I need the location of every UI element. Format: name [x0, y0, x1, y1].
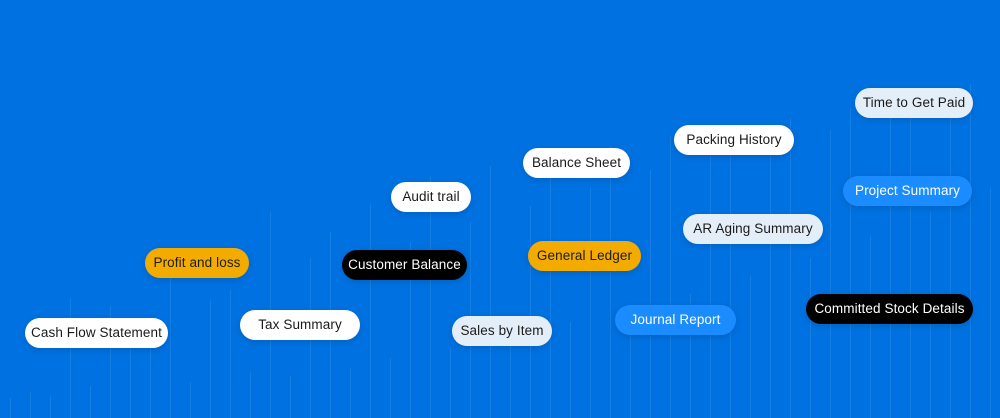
- background-bar: [170, 268, 171, 418]
- report-pill-customer-balance[interactable]: Customer Balance: [342, 250, 467, 280]
- report-tag-cloud-canvas: Time to Get PaidPacking HistoryBalance S…: [0, 0, 1000, 418]
- background-bar: [10, 398, 11, 418]
- background-bar: [750, 276, 751, 418]
- background-bar: [50, 396, 51, 418]
- report-pill-profit-and-loss[interactable]: Profit and loss: [145, 248, 249, 278]
- report-pill-packing-history[interactable]: Packing History: [674, 125, 794, 155]
- background-bar: [370, 204, 371, 418]
- background-bar: [650, 170, 651, 418]
- background-bar: [350, 368, 351, 418]
- background-bar: [730, 126, 731, 418]
- background-bar: [490, 166, 491, 418]
- background-bar: [970, 84, 971, 418]
- background-bar: [290, 376, 291, 418]
- background-bar: [810, 258, 811, 418]
- report-pill-audit-trail[interactable]: Audit trail: [391, 182, 471, 212]
- background-bar: [790, 118, 791, 418]
- report-pill-sales-by-item[interactable]: Sales by Item: [452, 316, 552, 346]
- report-pill-label: Profit and loss: [153, 256, 240, 270]
- report-pill-project-summary[interactable]: Project Summary: [843, 176, 972, 206]
- background-bar: [230, 290, 231, 418]
- report-pill-label: Balance Sheet: [532, 156, 621, 170]
- background-bar: [610, 146, 611, 418]
- background-bar: [190, 382, 191, 418]
- background-bar-pattern: [0, 0, 1000, 418]
- background-bar: [210, 300, 211, 418]
- background-bar: [850, 108, 851, 418]
- background-bar: [590, 188, 591, 418]
- background-bar: [390, 358, 391, 418]
- background-bar: [530, 206, 531, 418]
- report-pill-label: General Ledger: [537, 249, 632, 263]
- background-bar: [710, 156, 711, 418]
- report-pill-label: Packing History: [686, 133, 781, 147]
- report-pill-label: Tax Summary: [258, 318, 342, 332]
- report-pill-cash-flow-statement[interactable]: Cash Flow Statement: [25, 318, 168, 348]
- background-bar: [950, 102, 951, 418]
- background-bar: [890, 118, 891, 418]
- background-bar: [250, 372, 251, 418]
- background-bar: [430, 176, 431, 418]
- report-pill-journal-report[interactable]: Journal Report: [615, 305, 736, 335]
- report-pill-balance-sheet[interactable]: Balance Sheet: [523, 148, 630, 178]
- report-pill-label: Time to Get Paid: [863, 96, 965, 110]
- background-bar: [910, 96, 911, 418]
- background-bar: [830, 130, 831, 418]
- report-pill-label: Cash Flow Statement: [31, 326, 162, 340]
- background-bar: [90, 386, 91, 418]
- background-bar: [870, 236, 871, 418]
- background-bar: [450, 348, 451, 418]
- report-pill-time-to-get-paid[interactable]: Time to Get Paid: [855, 88, 973, 118]
- background-bar: [670, 136, 671, 418]
- report-pill-tax-summary[interactable]: Tax Summary: [240, 310, 360, 340]
- background-bar: [990, 188, 991, 418]
- background-bar: [70, 298, 71, 418]
- background-bar: [770, 142, 771, 418]
- report-pill-committed-stock-details[interactable]: Committed Stock Details: [806, 294, 973, 324]
- report-pill-label: Committed Stock Details: [814, 302, 964, 316]
- background-bar: [570, 322, 571, 418]
- report-pill-label: Sales by Item: [460, 324, 543, 338]
- background-bar: [510, 334, 511, 418]
- report-pill-label: AR Aging Summary: [693, 222, 812, 236]
- report-pill-general-ledger[interactable]: General Ledger: [528, 241, 641, 271]
- report-pill-ar-aging-summary[interactable]: AR Aging Summary: [683, 214, 823, 244]
- background-bar: [550, 156, 551, 418]
- report-pill-label: Journal Report: [631, 313, 721, 327]
- background-bar: [130, 340, 131, 418]
- report-pill-label: Project Summary: [855, 184, 960, 198]
- background-bar: [30, 392, 31, 418]
- report-pill-label: Audit trail: [402, 190, 459, 204]
- report-pill-label: Customer Balance: [348, 258, 461, 272]
